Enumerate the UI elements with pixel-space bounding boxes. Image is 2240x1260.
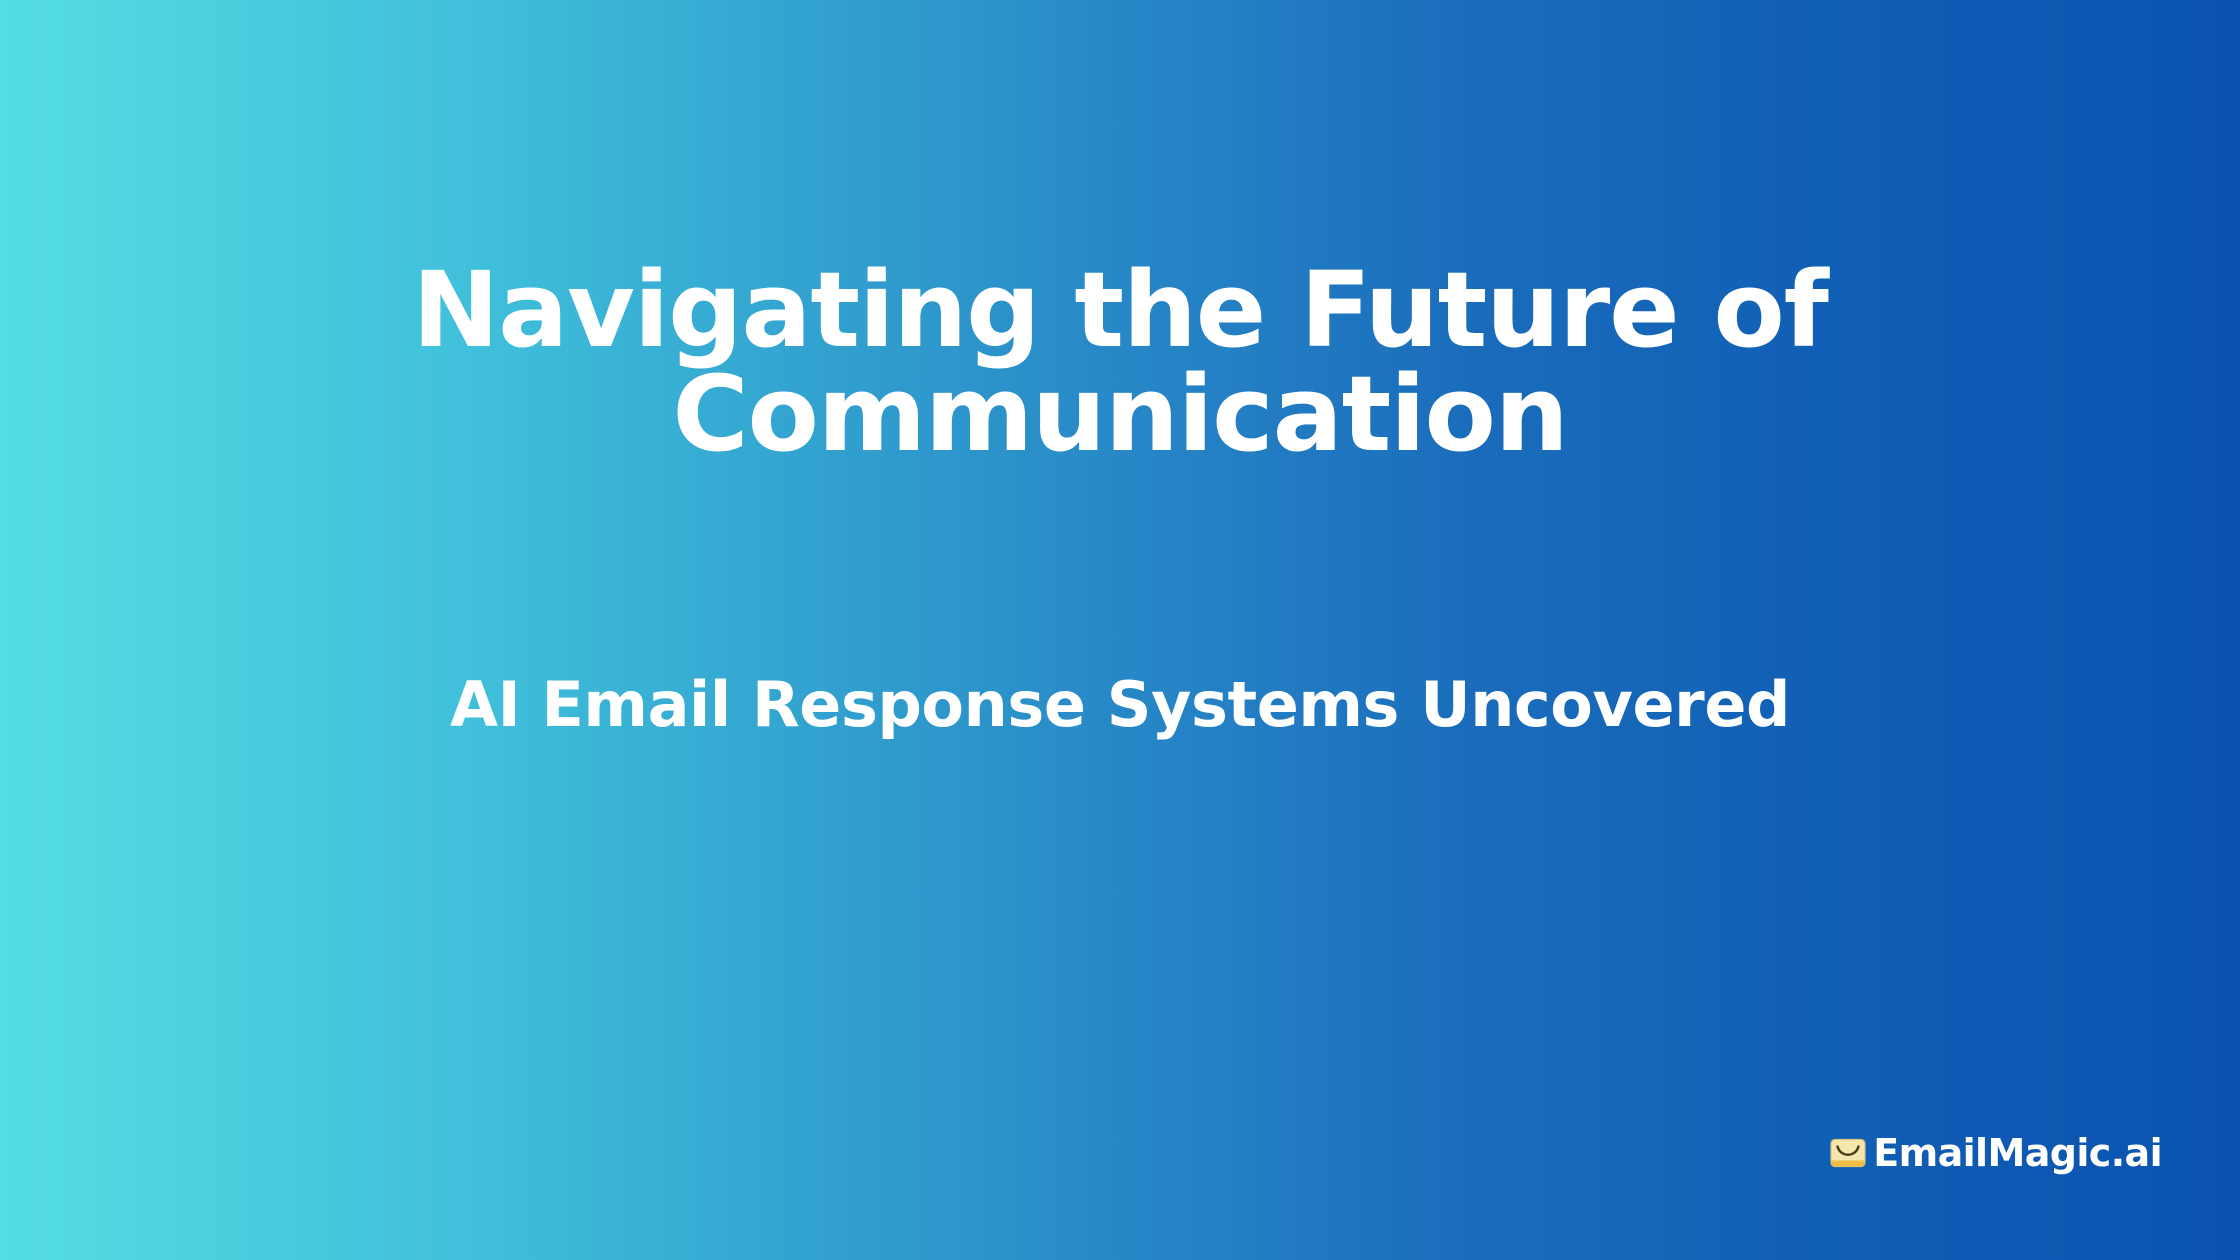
brand-name: EmailMagic.ai: [1873, 1134, 2162, 1172]
headline-block: Navigating the Future of Communication: [0, 258, 2240, 466]
envelope-icon: [1829, 1134, 1867, 1172]
slide-canvas: Navigating the Future of Communication A…: [0, 0, 2240, 1260]
page-title: Navigating the Future of Communication: [120, 258, 2120, 466]
page-subtitle: AI Email Response Systems Uncovered: [120, 672, 2120, 737]
subtitle-block: AI Email Response Systems Uncovered: [0, 672, 2240, 737]
brand-logo: EmailMagic.ai: [1829, 1134, 2162, 1172]
